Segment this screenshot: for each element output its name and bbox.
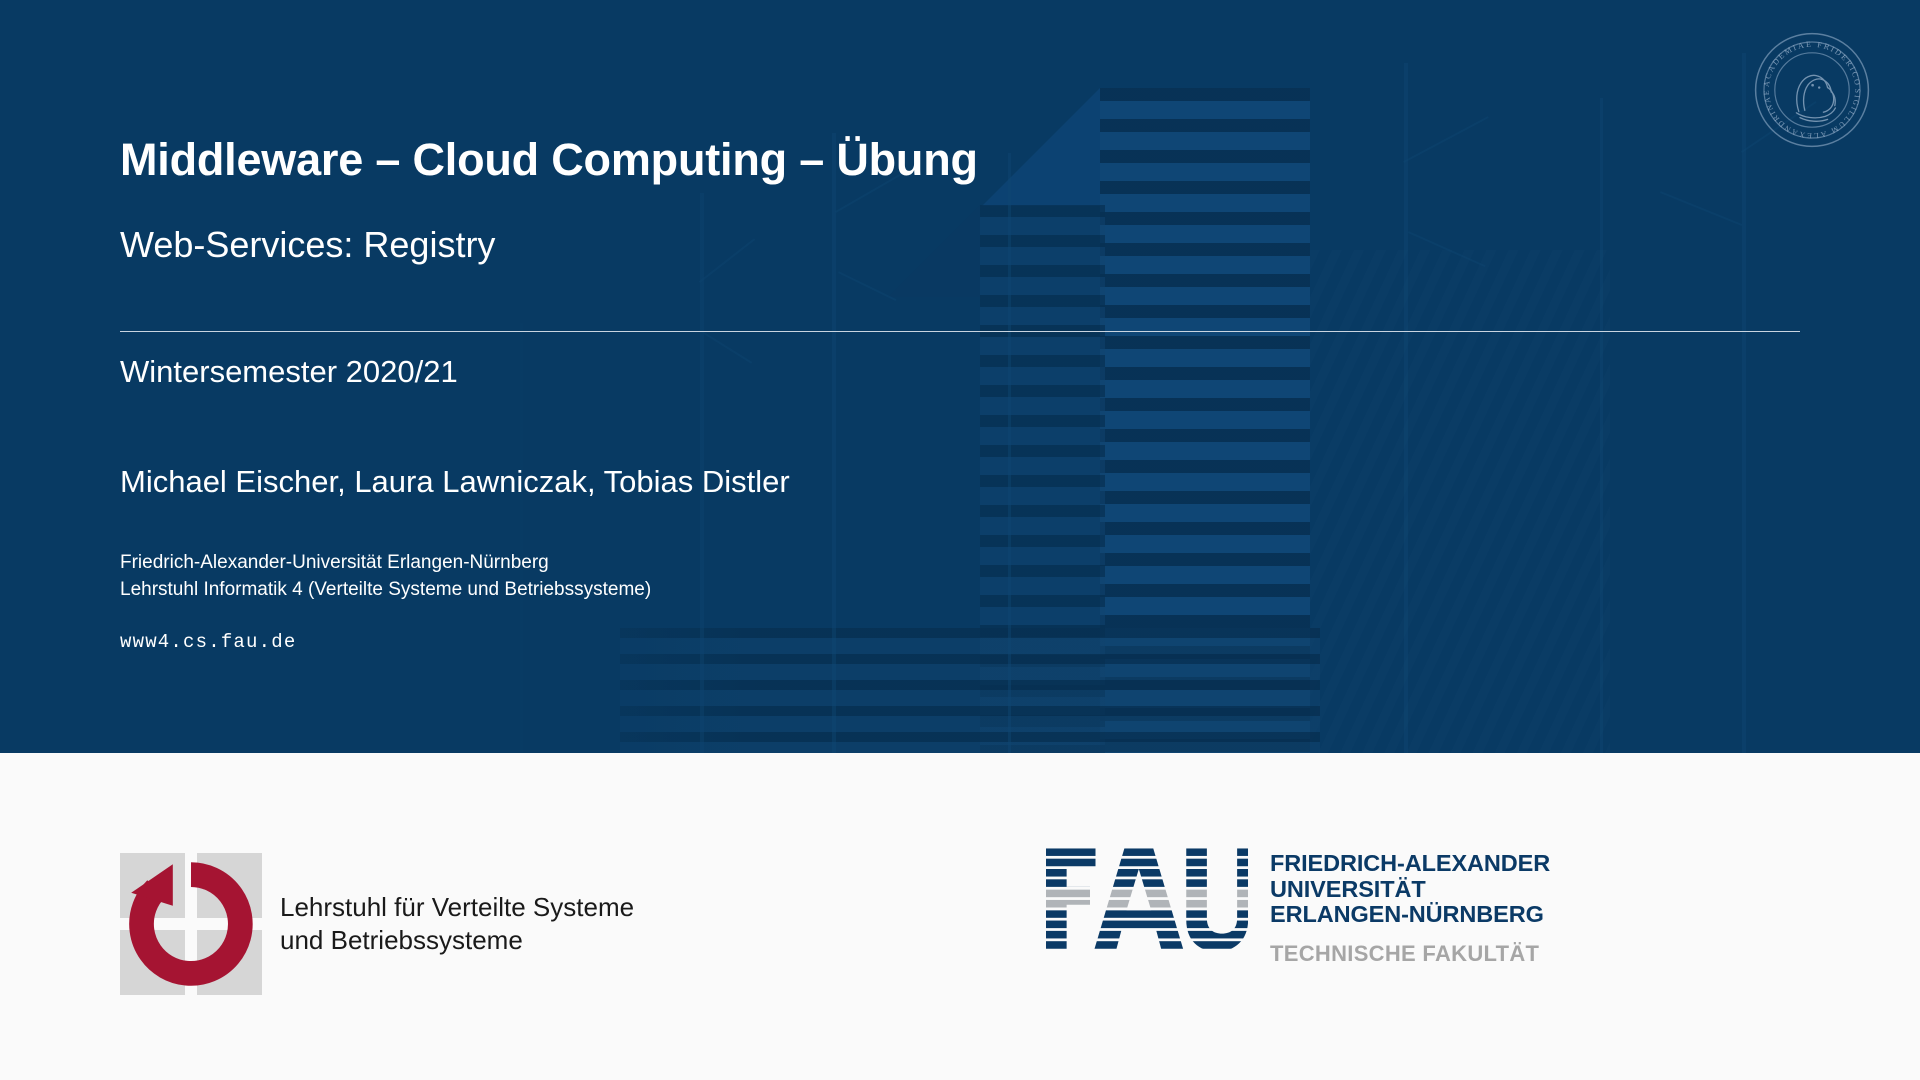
header-divider-rule: [120, 331, 1800, 332]
tree-branch: [699, 238, 755, 283]
fau-wordmark-icon: [1040, 847, 1250, 957]
fau-seal-icon: ACADEMIAE FRIDERICO SIGILLUM ALEXANDRINA…: [1752, 30, 1872, 150]
fau-name-line-1: FRIEDRICH-ALEXANDER: [1270, 851, 1550, 877]
tree-branch: [702, 331, 752, 363]
svg-text:SIGILLUM ALEXANDRINAE: SIGILLUM ALEXANDRINAE: [1762, 88, 1863, 140]
footer-bar: Lehrstuhl für Verteilte Systemeund Betri…: [0, 753, 1920, 1080]
tree-trunk: [1742, 53, 1746, 753]
semester-label: Wintersemester 2020/21: [120, 354, 458, 390]
chair-logo-caption: Lehrstuhl für Verteilte Systemeund Betri…: [280, 891, 634, 957]
affiliation-line-1: Friedrich-Alexander-Universität Erlangen…: [120, 552, 549, 573]
fau-faculty-label: TECHNISCHE FAKULTÄT: [1270, 941, 1550, 967]
website-url[interactable]: www4.cs.fau.de: [120, 631, 296, 653]
slide-root: ACADEMIAE FRIDERICO SIGILLUM ALEXANDRINA…: [0, 0, 1920, 1080]
chair-caption-line-1: Lehrstuhl für Verteilte Systeme: [280, 892, 634, 922]
tree-branch: [1660, 191, 1742, 226]
affiliation-line-2: Lehrstuhl Informatik 4 (Verteilte System…: [120, 579, 651, 600]
fau-name-line-2: UNIVERSITÄT: [1270, 877, 1550, 903]
chair-caption-line-2: und Betriebssysteme: [280, 925, 523, 955]
tree-trunk: [832, 133, 836, 753]
tree-trunk: [520, 323, 523, 753]
chair-logo: Lehrstuhl für Verteilte Systemeund Betri…: [120, 853, 634, 995]
tree-branch: [1403, 116, 1489, 163]
page-subtitle: Web-Services: Registry: [120, 224, 495, 266]
fau-wordmark-text: FRIEDRICH-ALEXANDER UNIVERSITÄT ERLANGEN…: [1270, 851, 1550, 967]
i4-mark-icon: [120, 853, 262, 995]
circular-arrow-icon: [126, 859, 256, 989]
tree-trunk: [1600, 98, 1603, 753]
building-podium: [620, 628, 1320, 753]
tree-trunk: [1404, 63, 1408, 753]
hero-banner: ACADEMIAE FRIDERICO SIGILLUM ALEXANDRINA…: [0, 0, 1920, 753]
affiliation-block: Friedrich-Alexander-Universität Erlangen…: [120, 549, 651, 603]
page-title: Middleware – Cloud Computing – Übung: [120, 134, 978, 186]
fau-logo: FRIEDRICH-ALEXANDER UNIVERSITÄT ERLANGEN…: [1040, 845, 1550, 967]
fau-name-line-3: ERLANGEN-NÜRNBERG: [1270, 902, 1550, 928]
tree-trunk: [1008, 153, 1011, 753]
authors-label: Michael Eischer, Laura Lawniczak, Tobias…: [120, 464, 790, 500]
building-wing: [1310, 250, 1610, 753]
